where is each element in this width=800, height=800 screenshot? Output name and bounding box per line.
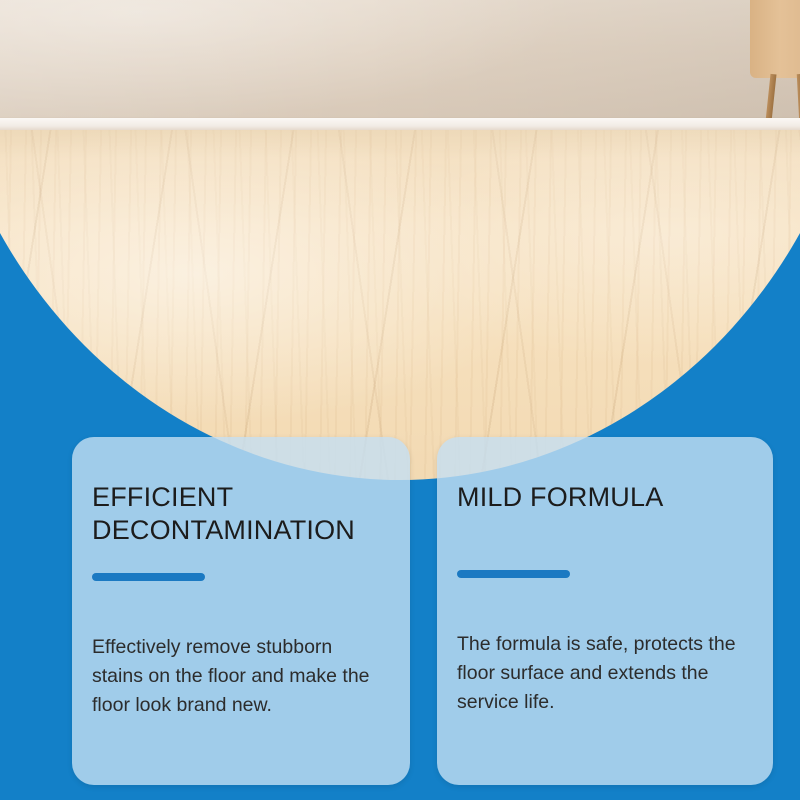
accent-divider — [92, 573, 205, 581]
feature-card-efficient-decontamination: EFFICIENT DECONTAMINATION Effectively re… — [72, 437, 410, 785]
feature-card-body: Effectively remove stubborn stains on th… — [92, 633, 384, 721]
hero-photo-circle — [0, 0, 800, 480]
accent-divider — [457, 570, 570, 578]
product-feature-banner: EFFICIENT DECONTAMINATION Effectively re… — [0, 0, 800, 800]
room-photo — [0, 0, 800, 480]
feature-card-title: EFFICIENT DECONTAMINATION — [92, 481, 384, 547]
feature-card-body: The formula is safe, protects the floor … — [457, 630, 747, 718]
feature-card-title: MILD FORMULA — [457, 481, 747, 514]
feature-card-mild-formula: MILD FORMULA The formula is safe, protec… — [437, 437, 773, 785]
cabinet — [750, 0, 800, 78]
wall-shading — [0, 0, 800, 120]
floor-sheen — [0, 130, 800, 480]
